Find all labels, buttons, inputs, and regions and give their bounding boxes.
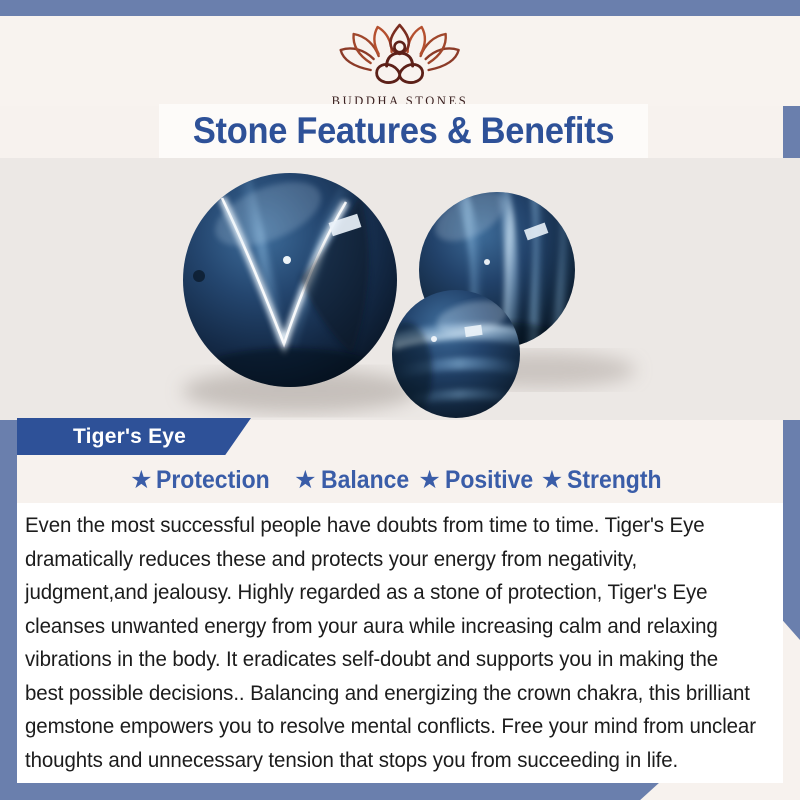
- benefit-label: Balance: [321, 466, 409, 495]
- description-panel: Even the most successful people have dou…: [17, 503, 783, 783]
- stone-name: Tiger's Eye: [73, 425, 186, 449]
- star-icon: ★: [294, 468, 316, 493]
- star-icon: ★: [541, 468, 563, 493]
- star-icon: ★: [130, 468, 152, 493]
- infographic-page: BUDDHA STONES Stone Features & Benefits: [0, 0, 800, 800]
- benefit-item-strength: ★ Strength: [541, 466, 670, 495]
- benefits-list: ★ Protection ★ Balance ★ Positive ★ Stre…: [17, 458, 783, 502]
- frame-bottom-bar: [0, 782, 660, 800]
- benefit-label: Strength: [567, 466, 662, 495]
- description-text: Even the most successful people have dou…: [25, 509, 756, 777]
- page-title-band: Stone Features & Benefits: [159, 104, 648, 158]
- lotus-meditation-icon: [332, 18, 469, 93]
- stone-name-banner: Tiger's Eye: [17, 418, 251, 455]
- benefit-item-positive: ★ Positive: [418, 466, 540, 495]
- benefit-item-balance: ★ Balance: [294, 466, 416, 495]
- benefit-label: Protection: [156, 466, 270, 495]
- star-icon: ★: [418, 468, 440, 493]
- stone-photo-image: [0, 158, 800, 420]
- benefit-label: Positive: [445, 466, 533, 495]
- page-title: Stone Features & Benefits: [193, 110, 614, 152]
- frame-top-bar: [0, 0, 800, 16]
- brand-logo: BUDDHA STONES: [332, 18, 469, 109]
- benefit-item-protection: ★ Protection: [130, 466, 280, 495]
- header: BUDDHA STONES: [0, 16, 800, 106]
- stone-photo: [0, 158, 800, 420]
